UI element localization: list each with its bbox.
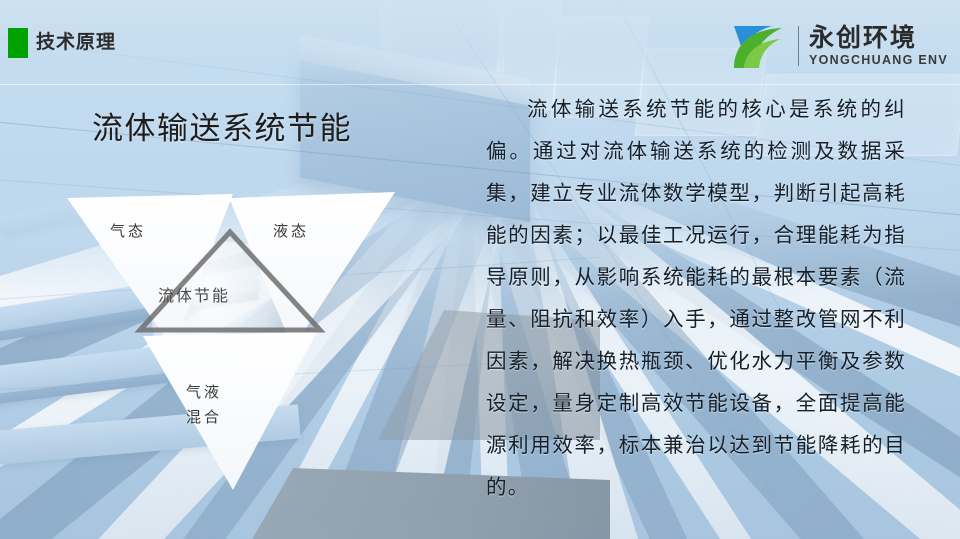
section-marker-icon [8,28,28,58]
company-logo: 永创环境 YONGCHUANG ENV [732,20,948,72]
logo-name-cn: 永创环境 [809,26,948,51]
section-title: 技术原理 [36,29,116,57]
node-triangle-mixture [143,332,317,490]
node-label-mixture-line1: 气液 [186,380,222,405]
node-label-liquid: 液态 [273,220,309,241]
page-title: 流体输送系统节能 [92,103,352,148]
fluid-energy-triangle-diagram: 气态 液态 气液 混合 流体节能 [55,172,405,502]
slide-root: 技术原理 永创环境 YONGCHUANG ENV 流体输送系统节能 [0,0,960,539]
center-label: 流体节能 [158,282,230,306]
body-paragraph: 流体输送系统节能的核心是系统的纠偏。通过对流体输送系统的检测及数据采集，建立专业… [486,88,906,508]
node-label-gas: 气态 [110,220,146,241]
logo-text: 永创环境 YONGCHUANG ENV [809,26,948,67]
node-label-mixture-line2: 混合 [186,405,222,430]
leaf-swoosh-icon [732,22,790,70]
logo-name-en: YONGCHUANG ENV [809,54,948,67]
header-divider [0,84,960,85]
logo-divider [798,26,799,66]
node-label-mixture: 气液 混合 [186,380,222,430]
